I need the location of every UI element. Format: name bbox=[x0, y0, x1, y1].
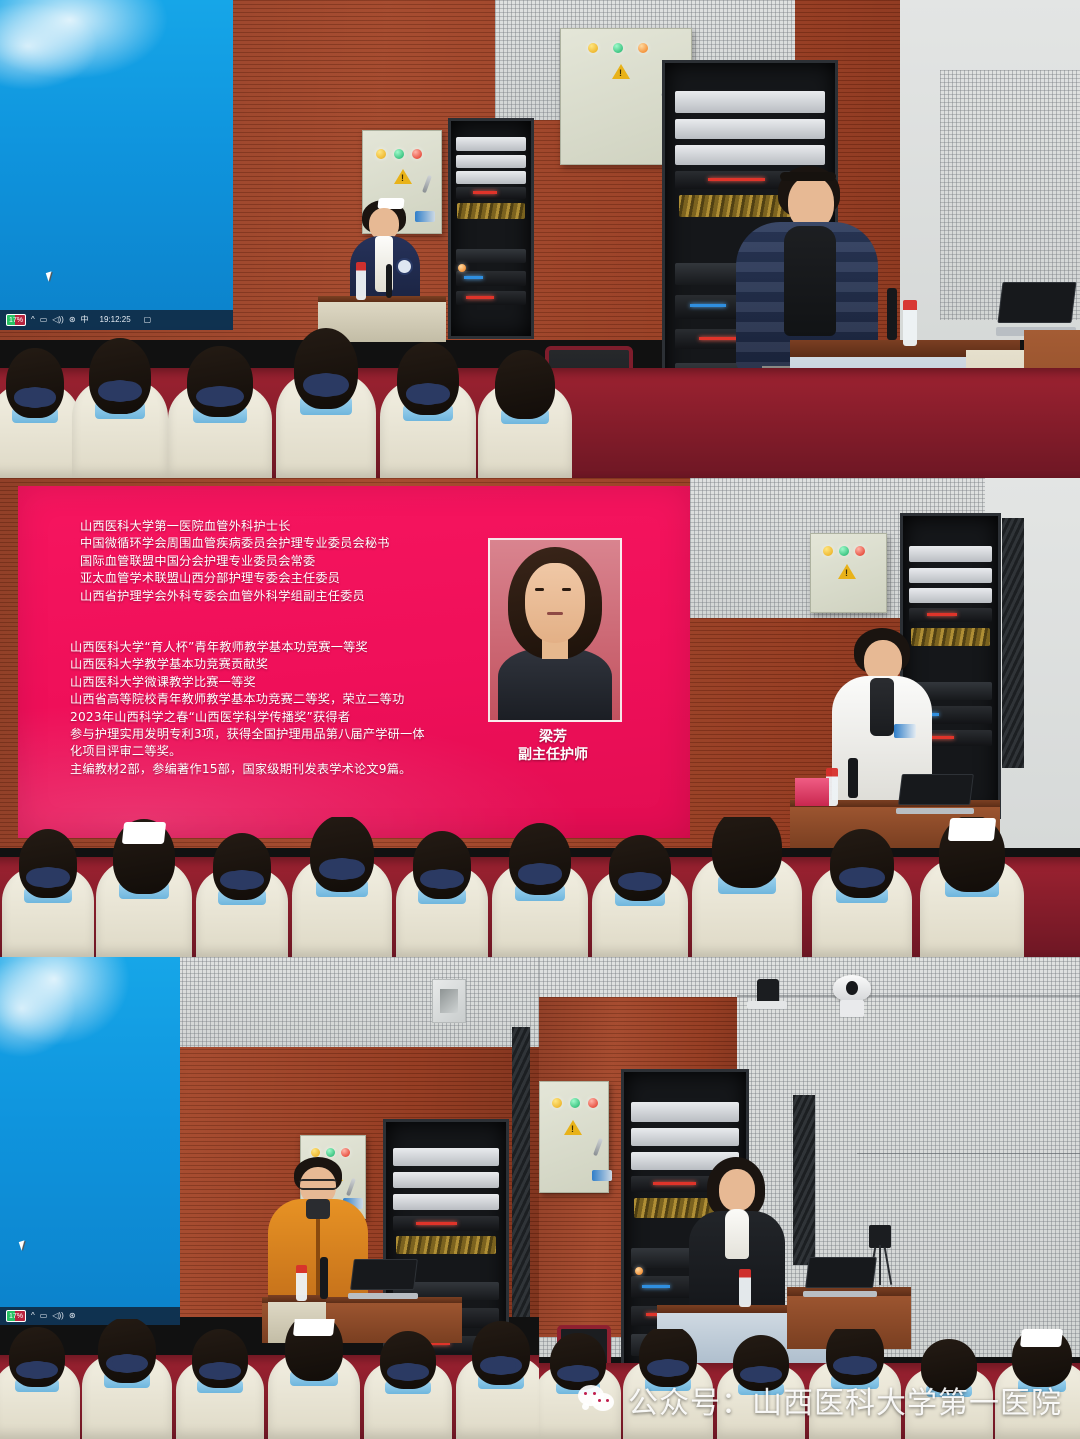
watermark-text: 公众号：山西医科大学第一医院 bbox=[628, 1378, 1062, 1422]
indicator-lamp-yellow bbox=[588, 43, 598, 53]
rack-unit bbox=[456, 171, 526, 184]
name-badge bbox=[894, 724, 916, 738]
headband bbox=[780, 172, 836, 181]
hair-bow bbox=[845, 867, 879, 887]
gooseneck-microphone bbox=[320, 1257, 328, 1299]
rack-unit bbox=[393, 1148, 499, 1166]
hair-bow bbox=[839, 1356, 870, 1375]
pink-folder bbox=[795, 778, 829, 806]
rack-unit bbox=[456, 137, 526, 151]
cable-bundle bbox=[457, 203, 524, 219]
speaker-column bbox=[512, 1027, 530, 1317]
audience-nurse bbox=[478, 350, 572, 478]
portrait-torso bbox=[498, 648, 612, 720]
handheld-microphone[interactable] bbox=[848, 758, 858, 798]
indicator-lamp-red bbox=[412, 149, 422, 159]
laptop[interactable] bbox=[900, 774, 970, 814]
speaker-portrait-photo bbox=[488, 538, 622, 722]
audience-nurse bbox=[812, 829, 912, 957]
laptop-screen bbox=[898, 774, 974, 805]
water-bottle bbox=[296, 1265, 307, 1301]
audience-nurse bbox=[268, 1319, 360, 1439]
hair-bow bbox=[205, 1362, 235, 1380]
water-bottle bbox=[739, 1269, 751, 1307]
rack-led-red bbox=[466, 296, 494, 299]
acoustic-wall-panel bbox=[178, 957, 539, 1047]
ceiling-vent bbox=[432, 979, 466, 1023]
tripod-leg bbox=[884, 1247, 893, 1285]
rack-unit bbox=[393, 1172, 499, 1188]
head-back bbox=[98, 1319, 156, 1383]
hair-bow bbox=[309, 373, 343, 397]
rack-unit bbox=[393, 1216, 499, 1231]
rack-unit bbox=[675, 119, 825, 139]
rack-led-red bbox=[927, 613, 957, 616]
projection-screen-desktop: 17% ^ ▭ ◁)) ⊛ 中 19:12:25 ▢ bbox=[0, 0, 233, 330]
network-icon[interactable]: ⊛ bbox=[69, 316, 76, 324]
chevron-up-icon[interactable]: ^ bbox=[31, 316, 35, 324]
electrical-cabinet bbox=[539, 1081, 609, 1193]
mouse-cursor-icon bbox=[46, 271, 54, 281]
portrait-face bbox=[525, 563, 585, 642]
volume-icon[interactable]: ◁)) bbox=[52, 316, 63, 324]
electrical-hazard-icon bbox=[394, 169, 412, 184]
rack-led-blue bbox=[642, 1285, 670, 1288]
portrait-eye-right bbox=[562, 588, 571, 591]
microphone bbox=[386, 264, 392, 298]
uniform-badge bbox=[396, 258, 413, 275]
hair-bow bbox=[32, 867, 63, 887]
head-back bbox=[712, 817, 782, 888]
hair-bow bbox=[112, 1354, 143, 1374]
rack-unit bbox=[456, 271, 526, 286]
rack-led-blue bbox=[690, 304, 726, 307]
audience-nurse bbox=[692, 817, 802, 957]
audience-nurse bbox=[96, 819, 192, 957]
photo-collage: 17% ^ ▭ ◁)) ⊛ 中 19:12:25 ▢ bbox=[0, 0, 1080, 1439]
audience-area bbox=[0, 328, 1080, 478]
cabinet-handle[interactable] bbox=[593, 1138, 603, 1156]
taskbar-clock[interactable]: 19:12:25 bbox=[100, 316, 131, 324]
face bbox=[719, 1169, 755, 1211]
indicator-lamp-green bbox=[839, 546, 849, 556]
audience-nurse bbox=[276, 328, 376, 478]
audience-nurse bbox=[0, 1327, 80, 1439]
presentation-slide: 山西医科大学第一医院血管外科护士长 中国微循环学会周围血管疾病委员会护理专业委员… bbox=[18, 486, 690, 838]
electrical-hazard-icon bbox=[612, 64, 630, 79]
audience-nurse bbox=[2, 829, 94, 957]
indicator-lamp-green bbox=[570, 1098, 580, 1108]
audience-nurse bbox=[920, 817, 1024, 957]
rack-unit bbox=[909, 608, 993, 622]
head-back bbox=[472, 1321, 530, 1385]
rack-unit bbox=[456, 291, 526, 305]
nurse-cap-icon bbox=[122, 822, 167, 844]
camera-mount bbox=[840, 1000, 864, 1017]
audience-nurse bbox=[0, 348, 80, 478]
slide-awards-block: 山西医科大学“育人杯”青年教师教学基本功竞赛一等奖 山西医科大学教学基本功竞赛贡… bbox=[70, 639, 425, 778]
tripod-leg bbox=[879, 1245, 881, 1285]
hair-bow bbox=[202, 386, 237, 407]
speaker-column bbox=[1002, 518, 1024, 768]
hair-bow bbox=[325, 858, 359, 881]
rack-led-red bbox=[416, 1222, 456, 1225]
rack-unit bbox=[909, 546, 993, 562]
audience-nurse bbox=[380, 342, 476, 478]
panel-top-presenter-and-audience: 17% ^ ▭ ◁)) ⊛ 中 19:12:25 ▢ bbox=[0, 0, 1080, 478]
hair-bow bbox=[22, 1361, 51, 1379]
rack-unit bbox=[675, 91, 825, 113]
indicator-lamp-yellow bbox=[552, 1098, 562, 1108]
audience-nurse bbox=[72, 338, 168, 478]
white-top bbox=[725, 1209, 749, 1259]
slide-line: 山西省护理学会外科专委会血管外科学组副主任委员 bbox=[80, 588, 390, 605]
portrait-title: 副主任护师 bbox=[473, 744, 633, 764]
audience-nurse bbox=[364, 1331, 452, 1439]
indicator-lamp-green bbox=[394, 149, 404, 159]
audience-nurse bbox=[82, 1319, 172, 1439]
inner-dark-top bbox=[306, 1199, 330, 1219]
windows-taskbar[interactable]: 17% ^ ▭ ◁)) ⊛ 中 19:12:25 ▢ bbox=[0, 310, 233, 330]
rack-led-blue bbox=[464, 276, 482, 279]
rack-lamp-orange bbox=[458, 264, 466, 272]
slide-line: 亚太血管学术联盟山西分部护理专委会主任委员 bbox=[80, 570, 390, 587]
wall-seam-line bbox=[857, 1153, 1080, 1154]
slide-line: 山西医科大学微课教学比赛一等奖 bbox=[70, 674, 425, 691]
cabinet-label-badge bbox=[592, 1170, 612, 1181]
mouse-cursor-icon bbox=[19, 1240, 27, 1250]
water-bottle bbox=[356, 262, 366, 300]
slide-line: 参与护理实用发明专利3项，获得全国护理用品第八届产学研一体 bbox=[70, 726, 425, 743]
indicator-lamp-yellow bbox=[823, 546, 833, 556]
portrait-mouth bbox=[547, 612, 563, 615]
laptop[interactable] bbox=[352, 1259, 414, 1299]
hair-bow bbox=[412, 383, 445, 405]
speaker-column bbox=[793, 1095, 815, 1265]
rack-unit bbox=[456, 187, 526, 199]
eyeglasses-icon bbox=[299, 1179, 337, 1190]
wall-seam-line bbox=[737, 995, 1080, 997]
indicator-lamp-red bbox=[855, 546, 865, 556]
av-equipment-rack-left bbox=[448, 118, 534, 339]
indicator-lamp-orange bbox=[638, 43, 648, 53]
rack-unit bbox=[631, 1102, 738, 1122]
projection-screen-desktop: 17% ^ ▭ ◁)) ⊛ bbox=[0, 957, 180, 1325]
laptop-base bbox=[803, 1291, 877, 1297]
panel-bottom-right-female-presenter bbox=[539, 957, 1080, 1439]
wall-camera-bracket bbox=[747, 1001, 787, 1009]
laptop-screen bbox=[805, 1257, 877, 1288]
laptop-base bbox=[348, 1293, 417, 1299]
slide-line: 山西省高等院校青年教师教学基本功竞赛二等奖，荣立二等功 bbox=[70, 691, 425, 708]
battery-indicator[interactable]: 17% bbox=[6, 314, 26, 326]
rack-unit bbox=[393, 1194, 499, 1210]
hair-bow bbox=[20, 387, 51, 408]
action-center-icon[interactable]: ▢ bbox=[144, 316, 152, 324]
indicator-lamp-green bbox=[326, 1148, 335, 1157]
slide-line: 2023年山西科学之春“山西医学科学传播奖”获得者 bbox=[70, 709, 425, 726]
audience-area bbox=[0, 1319, 539, 1439]
indicator-lamp-green bbox=[613, 43, 623, 53]
rack-unit bbox=[909, 568, 993, 583]
audience-nurse bbox=[456, 1321, 539, 1439]
slide-credentials-block: 山西医科大学第一医院血管外科护士长 中国微循环学会周围血管疾病委员会护理专业委员… bbox=[80, 518, 390, 605]
indicator-lamp-yellow bbox=[311, 1148, 320, 1157]
laptop-base bbox=[896, 808, 974, 814]
audience-nurse bbox=[196, 833, 288, 957]
nurse-cap-icon bbox=[293, 1319, 336, 1336]
audience-nurse bbox=[176, 1329, 264, 1439]
electrical-cabinet-right bbox=[810, 533, 887, 613]
audience-nurse bbox=[492, 823, 588, 957]
hair-bow bbox=[393, 1363, 423, 1380]
audience-nurse bbox=[292, 817, 392, 957]
battery-icon[interactable]: ▭ bbox=[40, 316, 48, 324]
head-back bbox=[310, 817, 374, 892]
slide-line: 国际血管联盟中国分会护理专业委员会常委 bbox=[80, 553, 390, 570]
slide-line: 山西医科大学第一医院血管外科护士长 bbox=[80, 518, 390, 535]
audience-nurse bbox=[396, 831, 488, 957]
head-back bbox=[89, 338, 150, 414]
slide-line: 化项目评审二等奖。 bbox=[70, 743, 425, 760]
hair-bow bbox=[426, 869, 457, 889]
wechat-logo-icon bbox=[578, 1385, 618, 1415]
audience-nurse bbox=[592, 835, 688, 957]
cabinet-handle[interactable] bbox=[422, 175, 432, 193]
laptop-screen bbox=[350, 1259, 418, 1290]
rack-unit bbox=[631, 1128, 738, 1146]
ptz-camera bbox=[833, 975, 871, 1017]
rack-unit bbox=[456, 155, 526, 168]
laptop-screen bbox=[997, 282, 1076, 323]
electrical-hazard-icon bbox=[838, 564, 856, 579]
audience-nurse bbox=[168, 346, 272, 478]
hair-bow bbox=[624, 872, 657, 892]
electrical-hazard-icon bbox=[564, 1120, 582, 1135]
standing-speaker-black-blazer bbox=[687, 1157, 787, 1317]
hair-bow bbox=[524, 863, 557, 884]
portrait-name: 梁芳 bbox=[488, 726, 618, 746]
rack-lamp-orange bbox=[635, 1267, 643, 1275]
panel-middle-slide-and-speaker: 山西医科大学第一医院血管外科护士长 中国微循环学会周围血管疾病委员会护理专业委员… bbox=[0, 478, 1080, 957]
rack-led-red bbox=[473, 191, 497, 194]
nurse-cap-icon bbox=[1020, 1329, 1063, 1347]
slide-line: 中国微循环学会周围血管疾病委员会护理专业委员会秘书 bbox=[80, 535, 390, 552]
slide-line: 主编教材2部，参编著作15部，国家级期刊发表学术论文9篇。 bbox=[70, 761, 425, 778]
nurse-cap-icon bbox=[948, 818, 996, 841]
head-back bbox=[495, 350, 555, 419]
laptop[interactable] bbox=[807, 1257, 873, 1297]
indicator-lamp-yellow bbox=[376, 149, 386, 159]
hair-bow bbox=[226, 870, 257, 890]
slide-line: 山西医科大学教学基本功竞赛贡献奖 bbox=[70, 656, 425, 673]
indicator-lamp-red bbox=[588, 1098, 598, 1108]
panel-bottom-left-male-presenter: 17% ^ ▭ ◁)) ⊛ bbox=[0, 957, 539, 1439]
rack-unit bbox=[909, 588, 993, 603]
audience-area bbox=[0, 817, 1080, 957]
slide-line: 山西医科大学“育人杯”青年教师教学基本功竞赛一等奖 bbox=[70, 639, 425, 656]
lab-coat-lapel bbox=[870, 678, 894, 736]
cable-bundle bbox=[396, 1236, 497, 1254]
indicator-lamp-red bbox=[341, 1148, 350, 1157]
ime-icon[interactable]: 中 bbox=[81, 316, 89, 324]
rack-unit bbox=[456, 249, 526, 263]
watermark: 公众号：山西医科大学第一医院 bbox=[578, 1378, 1062, 1422]
black-inner-top bbox=[784, 226, 836, 336]
portrait-eye-left bbox=[535, 588, 544, 591]
